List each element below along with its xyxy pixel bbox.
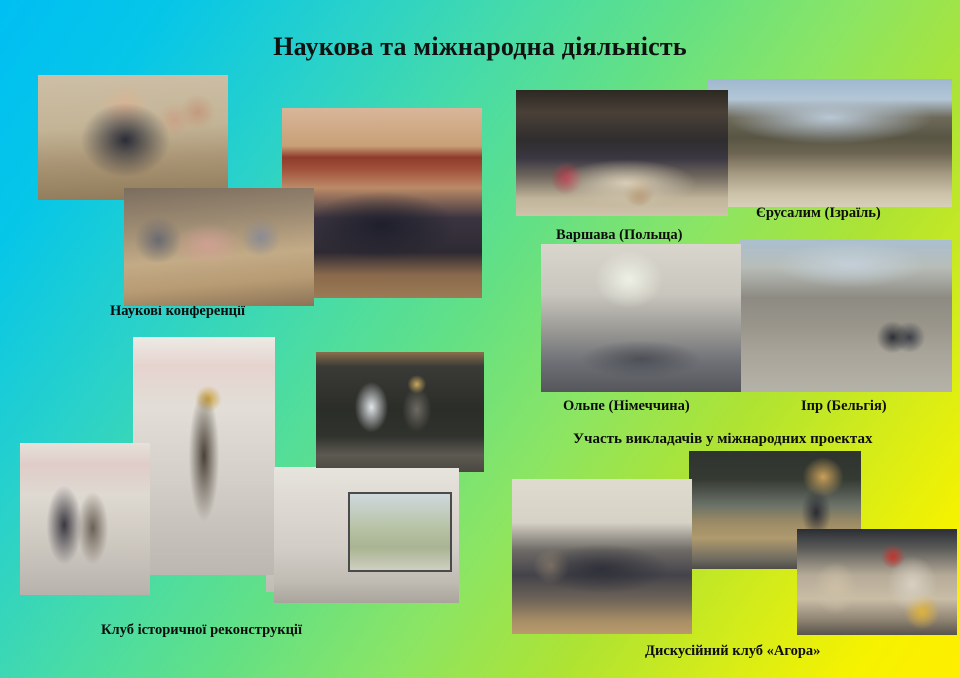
photo-projector-battle: [274, 468, 459, 603]
photo-knight-presentation: [797, 529, 957, 635]
caption-reenactment-club: Клуб історичної реконструкції: [101, 622, 302, 639]
caption-agora-club: Дискусійний клуб «Агора»: [645, 643, 820, 660]
photo-armour-spear-left: [20, 443, 150, 595]
caption-international-projects: Участь викладачів у міжнародних проектах: [573, 431, 872, 448]
photo-armour-standing: [133, 337, 275, 575]
photo-ypres-square: [740, 240, 952, 392]
photo-roundtable: [124, 188, 314, 306]
caption-olpe: Ольпе (Німеччина): [563, 398, 690, 415]
presentation-slide: Наукова та міжнародна діяльність Наукові…: [0, 0, 960, 678]
caption-warsaw: Варшава (Польща): [556, 227, 682, 244]
page-title: Наукова та міжнародна діяльність: [0, 32, 960, 62]
photo-jerusalem-group: [708, 79, 952, 207]
photo-olpe-seminar: [541, 244, 741, 392]
photo-lecture-hall: [38, 75, 228, 200]
photo-warsaw-museum: [516, 90, 728, 216]
caption-ypres: Іпр (Бельгія): [801, 398, 887, 415]
photo-blackboard-armour: [316, 352, 484, 472]
caption-jerusalem: Єрусалим (Ізраїль): [756, 205, 881, 222]
photo-agora-group: [512, 479, 692, 634]
